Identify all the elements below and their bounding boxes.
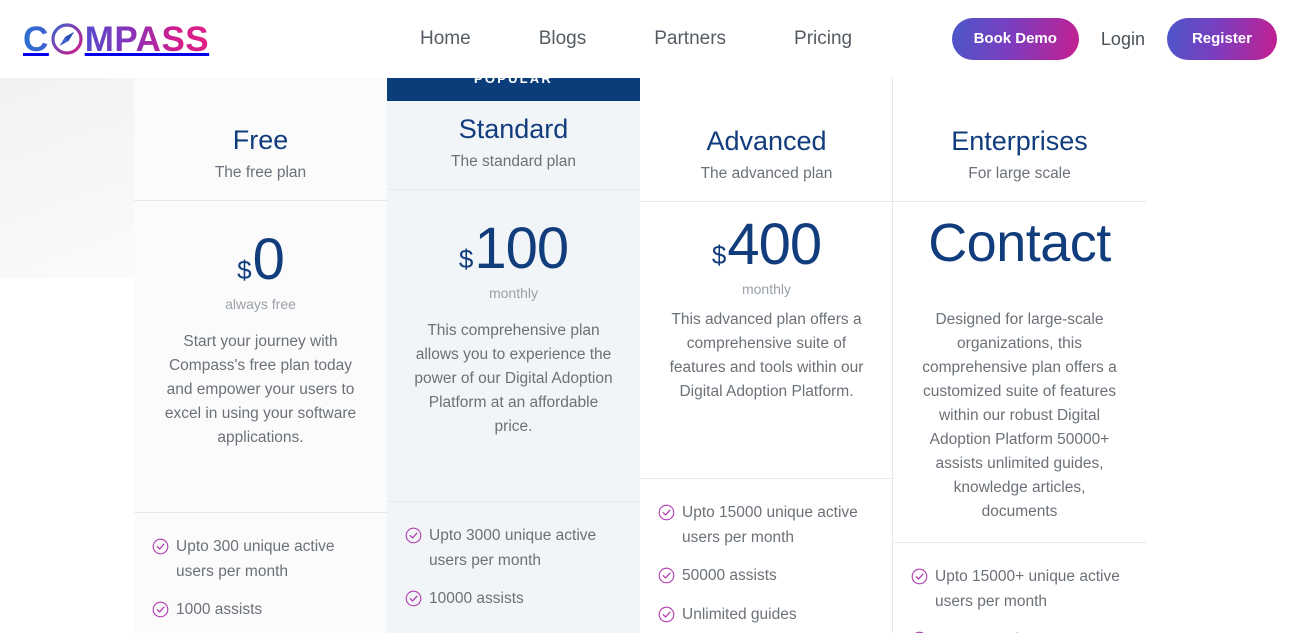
plan-features: Upto 3000 unique active users per month … [387, 502, 640, 626]
check-circle-icon [658, 606, 675, 623]
check-circle-icon [152, 601, 169, 618]
nav-item-blogs[interactable]: Blogs [505, 0, 621, 78]
main-nav: Home Blogs Partners Pricing [420, 0, 886, 78]
site-header: CMPASS Home Blogs Partners Pricing Book … [0, 0, 1291, 78]
plan-header: Standard The standard plan [387, 101, 640, 190]
price-period: monthly [640, 281, 893, 297]
feature-item: Upto 300 unique active users per month [152, 535, 369, 585]
nav-item-home[interactable]: Home [420, 0, 505, 78]
check-circle-icon [152, 538, 169, 555]
feature-item: 50000 assists [658, 564, 875, 589]
feature-label: 1000 assists [176, 598, 369, 623]
price-amount: 0 [253, 231, 284, 289]
feature-label: Upto 3000 unique active users per month [429, 524, 622, 574]
plan-name: Free [134, 124, 387, 158]
feature-item: 50000+ assists [911, 628, 1128, 633]
price-period: always free [134, 296, 387, 312]
banner-slot [134, 78, 387, 101]
price-row: $ 400 [640, 216, 893, 274]
pricing-page: CMPASS Home Blogs Partners Pricing Book … [0, 0, 1291, 633]
price-row: $ 100 [387, 220, 640, 278]
plan-header: Advanced The advanced plan [640, 101, 893, 202]
plan-description: Start your journey with Compass's free p… [134, 312, 387, 450]
compass-icon [50, 22, 84, 56]
plan-name: Standard [387, 113, 640, 147]
brand-logo[interactable]: CMPASS [23, 19, 209, 59]
feature-item: Upto 15000+ unique active users per mont… [911, 565, 1128, 615]
price-row: $ 0 [134, 231, 387, 289]
brand-logo-text: CMPASS [23, 22, 209, 57]
nav-item-partners[interactable]: Partners [620, 0, 760, 78]
price-amount: 100 [474, 220, 568, 278]
pricing-grid: Free The free plan $ 0 always free Start… [134, 78, 1166, 633]
plan-tagline: The free plan [134, 164, 387, 182]
feature-item: Unlimited guides [658, 603, 875, 628]
price-amount: Contact [928, 216, 1111, 270]
feature-item: 10000 assists [405, 587, 622, 612]
feature-label: 10000 assists [429, 587, 622, 612]
feature-label: Upto 300 unique active users per month [176, 535, 369, 585]
plan-tagline: The standard plan [387, 153, 640, 171]
plan-tagline: The advanced plan [640, 165, 893, 183]
banner-slot [893, 78, 1146, 101]
check-circle-icon [405, 527, 422, 544]
plan-price: $ 0 always free [134, 201, 387, 312]
plan-price: $ 400 monthly [640, 202, 893, 298]
header-actions: Book Demo Login Register [952, 18, 1277, 60]
plan-header: Enterprises For large scale [893, 101, 1146, 202]
pricing-card-enterprises[interactable]: Enterprises For large scale Contact Desi… [893, 78, 1146, 633]
check-circle-icon [658, 504, 675, 521]
plan-description: This comprehensive plan allows you to ex… [387, 301, 640, 439]
feature-label: 50000+ assists [935, 628, 1128, 633]
plan-description: Designed for large-scale organizations, … [893, 298, 1146, 524]
plan-features: Upto 15000 unique active users per month… [640, 479, 893, 633]
check-circle-icon [405, 590, 422, 607]
plan-price: $ 100 monthly [387, 190, 640, 301]
banner-slot [640, 78, 893, 101]
plan-description: This advanced plan offers a comprehensiv… [640, 298, 893, 404]
pricing-card-standard[interactable]: POPULAR Standard The standard plan $ 100… [387, 78, 640, 633]
brand-logo-text-part1: C [23, 22, 49, 57]
plan-price: Contact [893, 202, 1146, 298]
price-row: Contact [893, 216, 1146, 270]
feature-label: Upto 15000 unique active users per month [682, 501, 875, 551]
pricing-card-advanced[interactable]: Advanced The advanced plan $ 400 monthly… [640, 78, 893, 633]
plan-features: Upto 300 unique active users per month 1… [134, 513, 387, 633]
price-currency: $ [459, 246, 473, 272]
book-demo-button[interactable]: Book Demo [952, 18, 1079, 60]
plan-tagline: For large scale [893, 165, 1146, 183]
brand-logo-text-part2: MPASS [85, 22, 209, 57]
plan-header: Free The free plan [134, 101, 387, 201]
price-currency: $ [712, 242, 726, 268]
check-circle-icon [658, 567, 675, 584]
register-button[interactable]: Register [1167, 18, 1277, 60]
nav-item-pricing[interactable]: Pricing [760, 0, 886, 78]
feature-item: 1000 assists [152, 598, 369, 623]
login-link[interactable]: Login [1079, 29, 1167, 50]
price-amount: 400 [727, 216, 821, 274]
check-circle-icon [911, 568, 928, 585]
feature-label: Upto 15000+ unique active users per mont… [935, 565, 1128, 615]
feature-label: 50000 assists [682, 564, 875, 589]
plan-name: Enterprises [893, 125, 1146, 159]
feature-item: Upto 15000 unique active users per month [658, 501, 875, 551]
price-currency: $ [237, 257, 251, 283]
price-period: monthly [387, 285, 640, 301]
feature-item: Upto 3000 unique active users per month [405, 524, 622, 574]
feature-label: Unlimited guides [682, 603, 875, 628]
pricing-card-free[interactable]: Free The free plan $ 0 always free Start… [134, 78, 387, 633]
plan-name: Advanced [640, 125, 893, 159]
plan-features: Upto 15000+ unique active users per mont… [893, 543, 1146, 633]
pricing-section: Free The free plan $ 0 always free Start… [0, 78, 1291, 633]
